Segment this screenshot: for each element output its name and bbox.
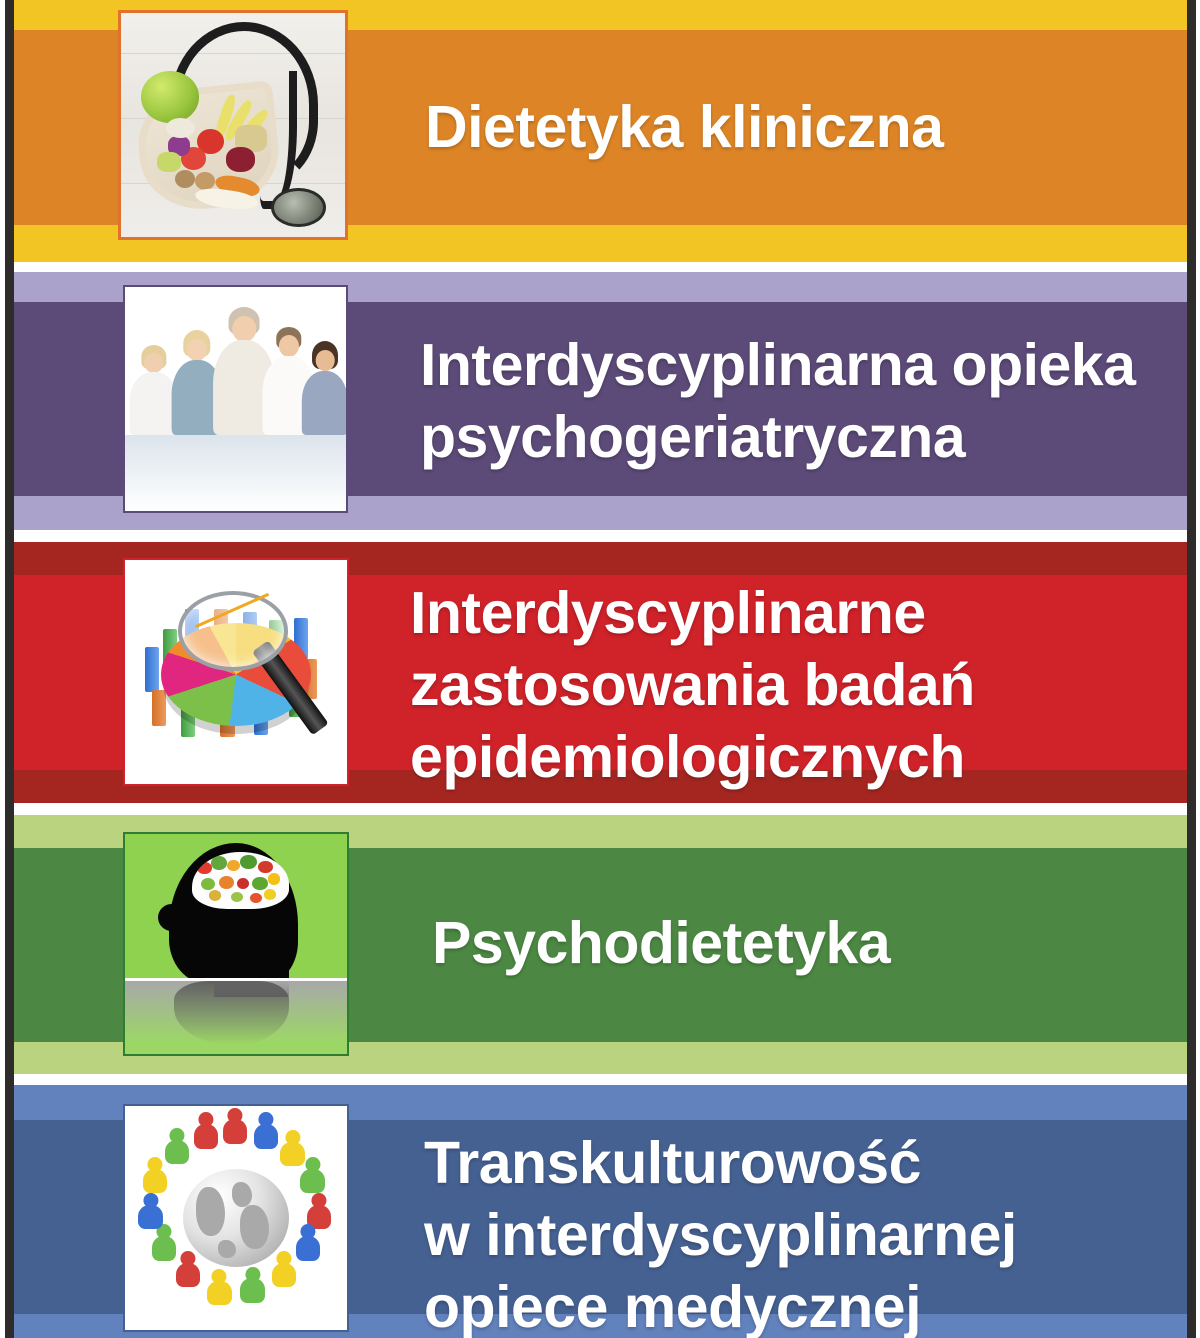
band-4-title: Psychodietetyka: [432, 908, 1132, 980]
band-5-thumbnail[interactable]: [123, 1104, 349, 1332]
band-2-thumbnail[interactable]: [123, 285, 348, 513]
frame-rail-left: [5, 0, 14, 1338]
band-2-title: Interdyscyplinarna opieka psychogeriatry…: [420, 330, 1140, 474]
band-3-thumbnail[interactable]: [123, 558, 349, 786]
heart-bowl-vegetables-stethoscope-image: [121, 13, 345, 237]
band-4-thumbnail[interactable]: [123, 832, 349, 1056]
band-1-thumbnail[interactable]: [118, 10, 348, 240]
head-silhouette-vegetable-brain-image: [125, 834, 347, 1054]
band-5-title: Transkulturowość w interdyscyplinarnej o…: [424, 1128, 1164, 1338]
band-3-title: Interdyscyplinarne zastosowania badań ep…: [410, 578, 1150, 794]
band-1-title: Dietetyka kliniczna: [425, 92, 1145, 164]
medical-team-photo-image: [125, 287, 346, 511]
frame-rail-right: [1187, 0, 1196, 1338]
slide-canvas: Dietetyka kliniczna: [0, 0, 1200, 1338]
globe-puzzle-people-image: [125, 1106, 347, 1330]
pie-chart-magnifier-image: [125, 560, 347, 784]
